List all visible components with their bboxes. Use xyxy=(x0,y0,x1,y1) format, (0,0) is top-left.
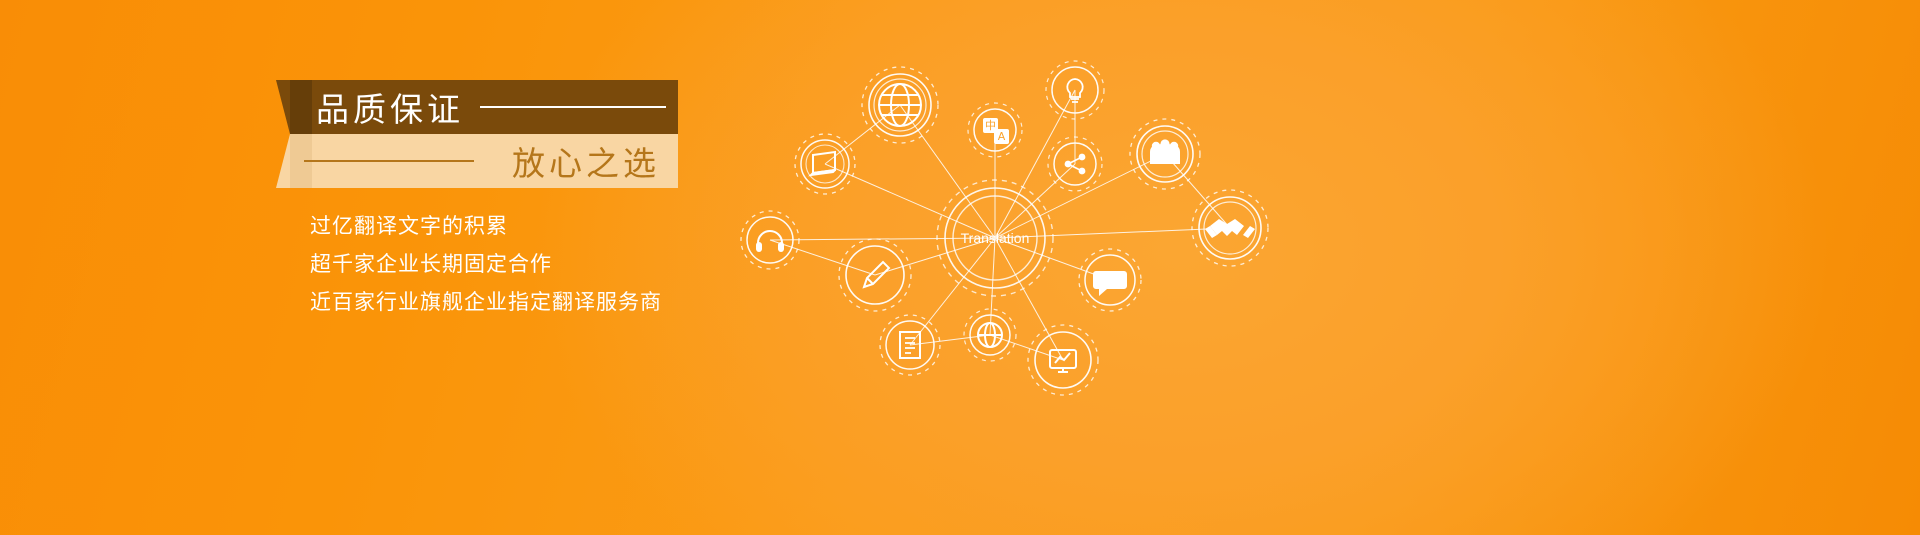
ribbon-top-bevel xyxy=(290,80,312,134)
ribbon-title: 品质保证 放心之选 xyxy=(290,80,678,188)
list-item: 近百家行业旗舰企业指定翻译服务商 xyxy=(310,284,662,322)
list-item: 过亿翻译文字的积累 xyxy=(310,208,662,246)
list-item: 超千家企业长期固定合作 xyxy=(310,246,662,284)
hub-label: Translation xyxy=(961,230,1030,246)
title-primary: 品质保证 xyxy=(316,83,464,131)
ribbon-top-bar: 品质保证 xyxy=(290,80,678,134)
node-web-globe-icon xyxy=(964,309,1016,361)
ribbon-bottom-rule xyxy=(304,160,474,162)
ribbon-bottom-bar: 放心之选 xyxy=(290,134,678,188)
node-people-group-icon xyxy=(1130,119,1200,189)
node-monitor-chart-icon xyxy=(1028,325,1098,395)
promo-banner: 品质保证 放心之选 过亿翻译文字的积累 超千家企业长期固定合作 近百家行业旗舰企… xyxy=(0,0,1920,535)
node-chat-bubble-icon xyxy=(1079,249,1141,311)
translation-network-graphic: 中 A xyxy=(730,30,1350,420)
feature-list: 过亿翻译文字的积累 超千家企业长期固定合作 近百家行业旗舰企业指定翻译服务商 xyxy=(310,208,662,322)
ribbon-top-rule xyxy=(480,106,666,108)
node-handshake-icon xyxy=(1192,190,1268,266)
node-globe-icon xyxy=(862,67,938,143)
title-secondary: 放心之选 xyxy=(512,137,660,185)
